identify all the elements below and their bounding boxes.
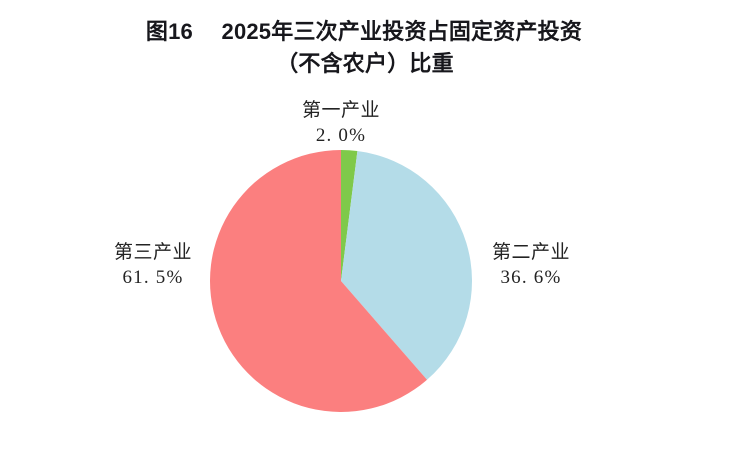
pie-label-primary-industry-name: 第一产业	[248, 98, 434, 123]
chart-title-line-1: 图16 2025年三次产业投资占固定资产投资	[0, 16, 732, 48]
pie-label-primary-industry: 第一产业 2. 0%	[248, 98, 434, 148]
pie-label-tertiary-industry: 第三产业 61. 5%	[78, 240, 228, 290]
pie-label-secondary-industry-name: 第二产业	[456, 240, 606, 265]
pie-label-secondary-industry: 第二产业 36. 6%	[456, 240, 606, 290]
figure-pie-industry-investment-share: 图16 2025年三次产业投资占固定资产投资 （不含农户）比重 第一产业 2. …	[0, 0, 732, 459]
pie-label-tertiary-industry-value: 61. 5%	[78, 265, 228, 290]
pie-chart-svg	[210, 150, 472, 412]
pie-slices	[210, 150, 472, 412]
chart-title: 图16 2025年三次产业投资占固定资产投资 （不含农户）比重	[0, 16, 732, 80]
pie-label-primary-industry-value: 2. 0%	[248, 123, 434, 148]
pie-label-secondary-industry-value: 36. 6%	[456, 265, 606, 290]
pie-chart	[210, 150, 472, 412]
pie-label-tertiary-industry-name: 第三产业	[78, 240, 228, 265]
chart-title-line-2: （不含农户）比重	[0, 48, 732, 80]
